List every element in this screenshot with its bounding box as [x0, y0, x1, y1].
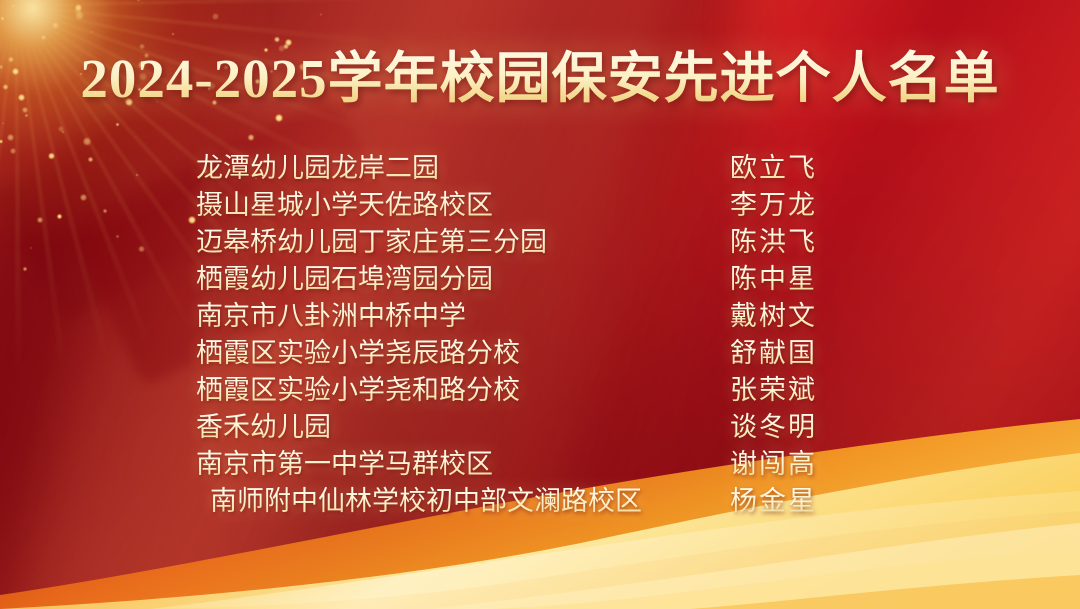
honor-list: 1、龙潭幼儿园龙岸二园欧立飞2、摄山星城小学天佐路校区李万龙3、迈皋桥幼儿园丁家… [0, 150, 1080, 520]
list-item-school: 南京市八卦洲中桥中学 [196, 298, 466, 335]
list-item-person-name: 李万龙 [730, 187, 817, 224]
list-item: 10、南师附中仙林学校初中部文澜路校区杨金星 [0, 483, 1080, 520]
gold-particle [320, 13, 323, 16]
gold-particle [212, 13, 219, 20]
gold-particle [74, 6, 81, 13]
list-item: 7、栖霞区实验小学尧和路分校张荣斌 [0, 372, 1080, 409]
list-item-school: 香禾幼儿园 [196, 409, 331, 446]
gold-particle [285, 39, 291, 45]
list-item-person-name: 陈中星 [730, 261, 817, 298]
gold-particle [12, 5, 14, 7]
list-item-school: 南师附中仙林学校初中部文澜路校区 [210, 483, 642, 520]
list-item: 2、摄山星城小学天佐路校区李万龙 [0, 187, 1080, 224]
list-item: 4、栖霞幼儿园石埠湾园分园陈中星 [0, 261, 1080, 298]
list-item: 8、香禾幼儿园谈冬明 [0, 409, 1080, 446]
list-item-person-name: 杨金星 [730, 483, 817, 520]
list-item-person-name: 谈冬明 [730, 409, 817, 446]
list-item-person-name: 谢闯高 [730, 446, 817, 483]
gold-particle [274, 37, 280, 43]
poster-stage: 2024-2025学年校园保安先进个人名单 1、龙潭幼儿园龙岸二园欧立飞2、摄山… [0, 0, 1080, 609]
gold-particle [172, 33, 173, 34]
gold-particle [248, 134, 254, 140]
gold-particle [41, 35, 46, 40]
list-item-person-name: 陈洪飞 [730, 224, 817, 261]
list-item-school: 栖霞区实验小学尧辰路分校 [196, 335, 520, 372]
list-item-person-name: 戴树文 [730, 298, 817, 335]
list-item-school: 龙潭幼儿园龙岸二园 [196, 150, 439, 187]
list-item: 6、栖霞区实验小学尧辰路分校舒献国 [0, 335, 1080, 372]
list-item-school: 栖霞区实验小学尧和路分校 [196, 372, 520, 409]
list-item: 1、龙潭幼儿园龙岸二园欧立飞 [0, 150, 1080, 187]
gold-particle [0, 140, 3, 143]
gold-particle [275, 114, 282, 121]
list-item: 9、南京市第一中学马群校区谢闯高 [0, 446, 1080, 483]
gold-particle [116, 123, 119, 126]
list-item-school: 南京市第一中学马群校区 [196, 446, 493, 483]
list-item-person-name: 张荣斌 [730, 372, 817, 409]
list-item-school: 栖霞幼儿园石埠湾园分园 [196, 261, 493, 298]
list-item-person-name: 欧立飞 [730, 150, 817, 187]
list-item-school: 摄山星城小学天佐路校区 [196, 187, 493, 224]
page-title: 2024-2025学年校园保安先进个人名单 [0, 47, 1080, 111]
list-item-person-name: 舒献国 [730, 335, 817, 372]
list-item: 5、南京市八卦洲中桥中学戴树文 [0, 298, 1080, 335]
gold-particle [83, 137, 91, 145]
gold-particle [1, 17, 3, 19]
list-item-school: 迈皋桥幼儿园丁家庄第三分园 [196, 224, 547, 261]
list-item: 3、迈皋桥幼儿园丁家庄第三分园陈洪飞 [0, 224, 1080, 261]
